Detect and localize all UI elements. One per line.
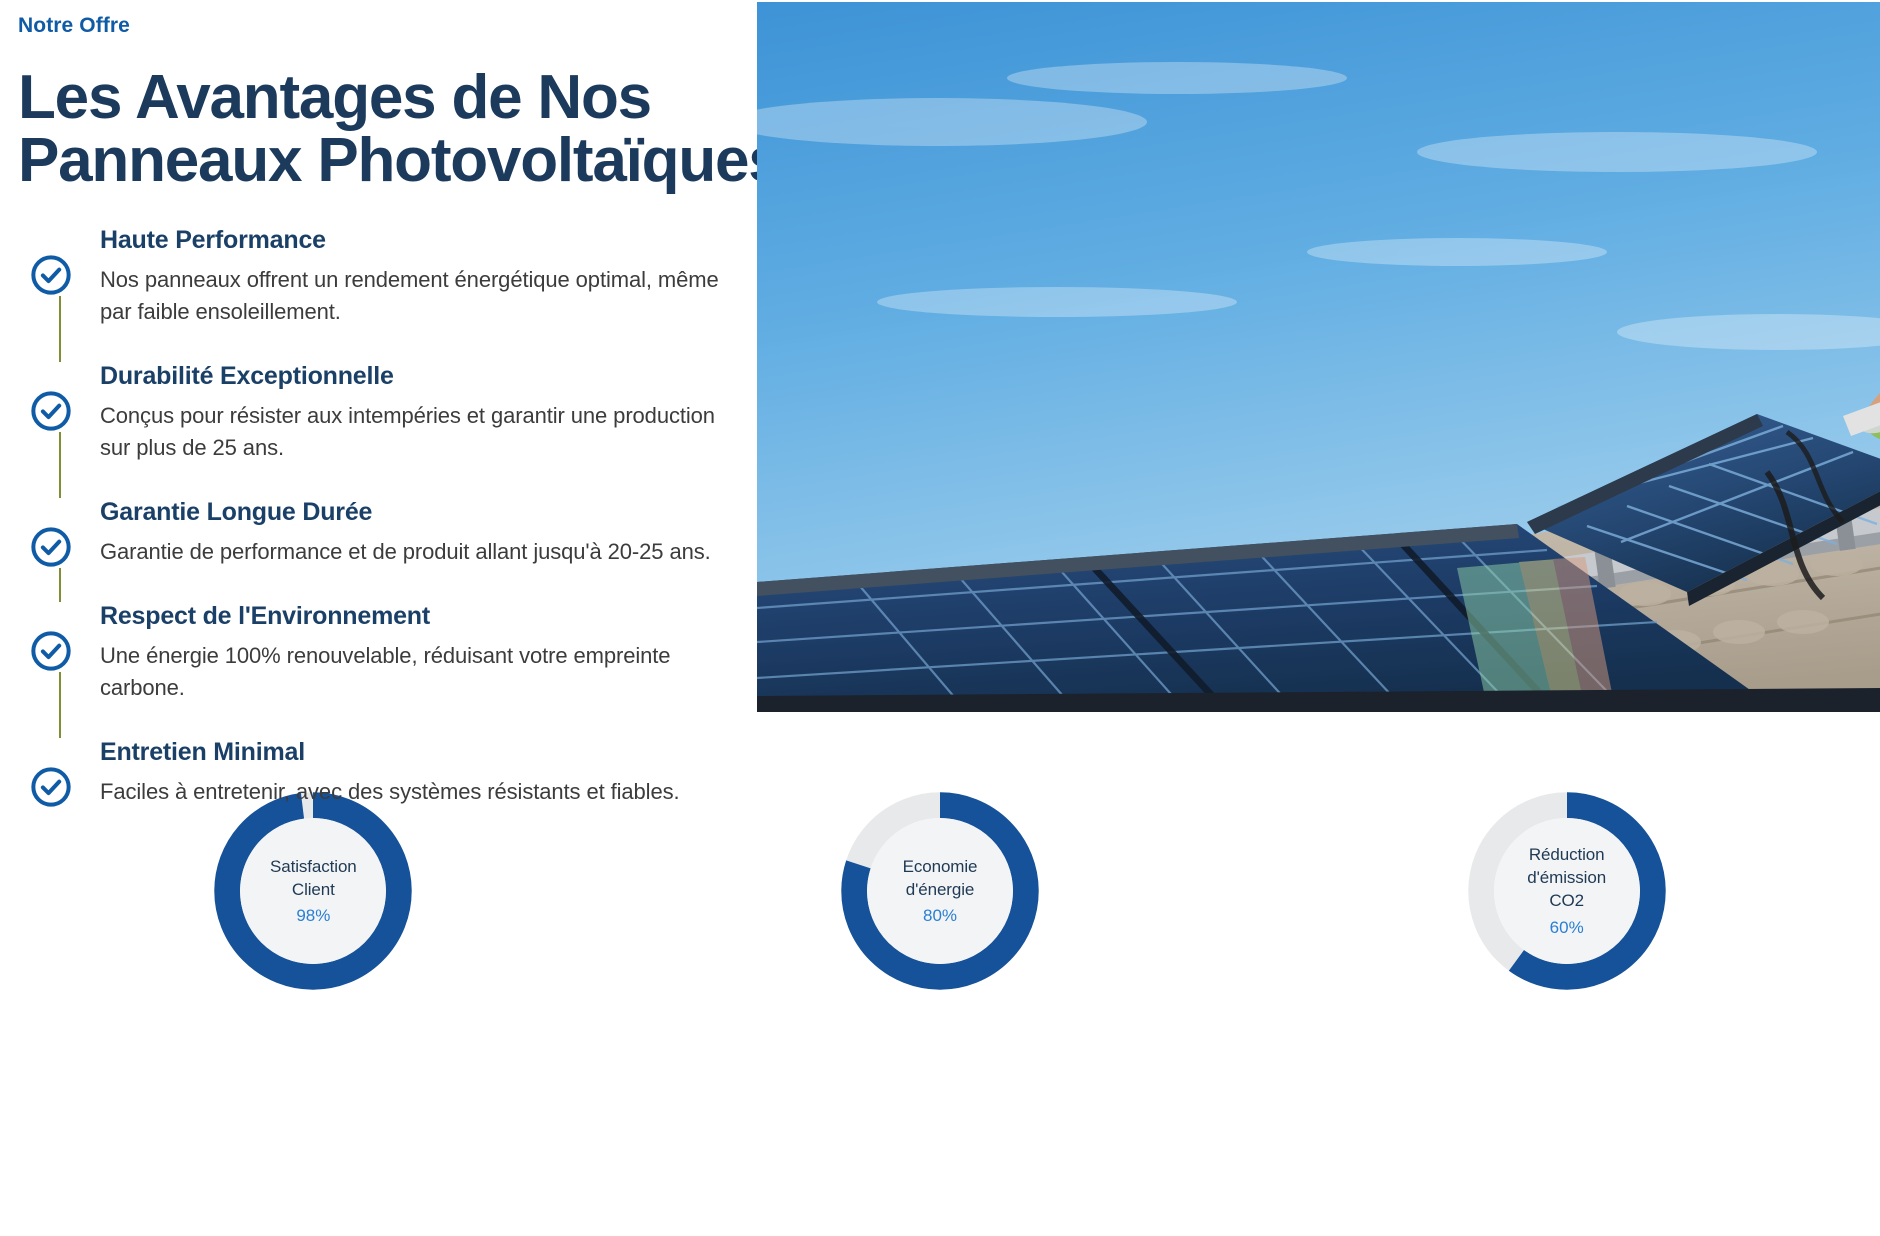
feature-description: Une énergie 100% renouvelable, réduisant… [100,640,750,704]
check-circle-icon [18,498,84,568]
feature-body: Garantie Longue Durée Garantie de perfor… [84,498,784,568]
marketing-page: Notre Offre Les Avantages de Nos Panneau… [0,0,1880,1236]
feature-description: Faciles à entretenir, avec des systèmes … [100,776,750,808]
stat-cell: SatisfactionClient 98% [0,780,627,1220]
hero-photo [757,2,1880,712]
feature-body: Haute Performance Nos panneaux offrent u… [84,226,784,328]
feature-body: Respect de l'Environnement Une énergie 1… [84,602,784,704]
feature-title: Entretien Minimal [100,738,784,767]
check-circle-icon [18,738,84,808]
stats-row: SatisfactionClient 98% Economied'énergie… [0,780,1880,1220]
check-circle-icon [18,602,84,672]
donut-chart-satisfaction: SatisfactionClient 98% [210,788,416,994]
feature-description: Conçus pour résister aux intempéries et … [100,400,750,464]
donut-chart-economie: Economied'énergie 80% [837,788,1043,994]
feature-title: Durabilité Exceptionnelle [100,362,784,391]
feature-item: Haute Performance Nos panneaux offrent u… [18,226,898,328]
feature-list: Haute Performance Nos panneaux offrent u… [18,226,898,807]
feature-title: Garantie Longue Durée [100,498,784,527]
page-title: Les Avantages de Nos Panneaux Photovolta… [18,66,868,192]
feature-item: Entretien Minimal Faciles à entretenir, … [18,738,898,808]
check-circle-icon [18,226,84,296]
feature-description: Garantie de performance et de produit al… [100,536,750,568]
feature-body: Durabilité Exceptionnelle Conçus pour ré… [84,362,784,464]
feature-item: Garantie Longue Durée Garantie de perfor… [18,498,898,568]
stat-cell: Réductiond'émissionCO2 60% [1253,780,1880,1220]
feature-item: Durabilité Exceptionnelle Conçus pour ré… [18,362,898,464]
feature-title: Respect de l'Environnement [100,602,784,631]
feature-title: Haute Performance [100,226,784,255]
stat-cell: Economied'énergie 80% [627,780,1254,1220]
feature-item: Respect de l'Environnement Une énergie 1… [18,602,898,704]
check-circle-icon [18,362,84,432]
feature-body: Entretien Minimal Faciles à entretenir, … [84,738,784,808]
feature-description: Nos panneaux offrent un rendement énergé… [100,264,750,328]
donut-chart-reduction-co2: Réductiond'émissionCO2 60% [1464,788,1670,994]
